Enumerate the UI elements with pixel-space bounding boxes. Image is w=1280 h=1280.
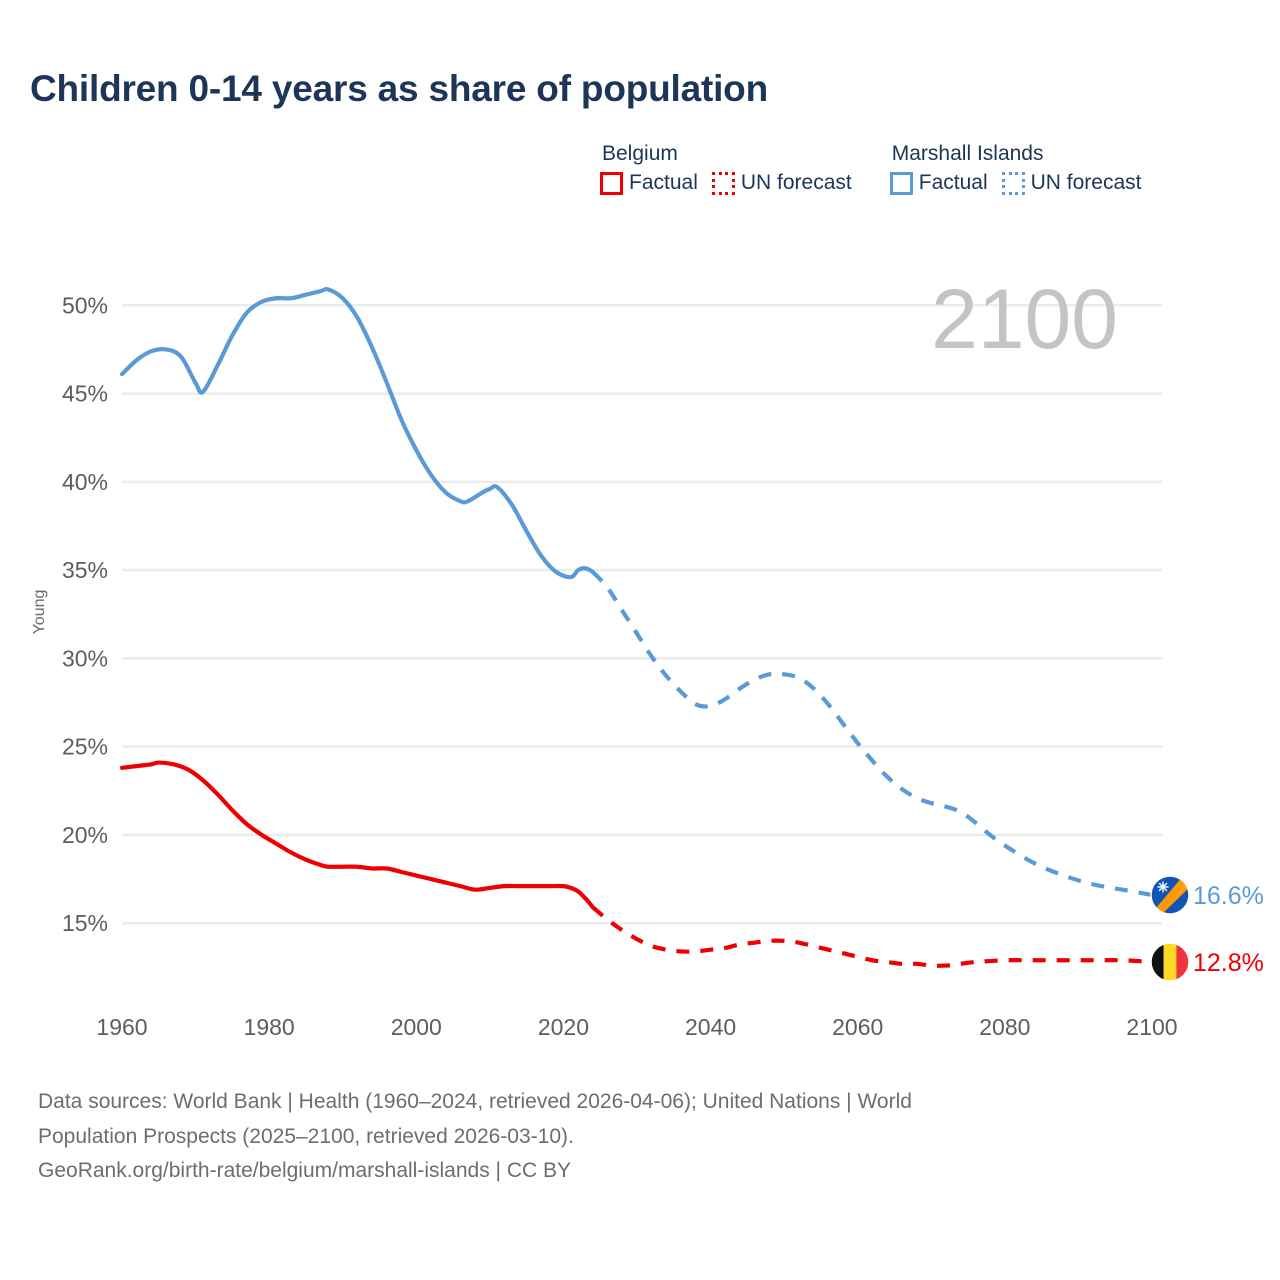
y-axis-tick-label: 50% <box>62 292 108 318</box>
x-axis-tick-label: 2000 <box>391 1014 442 1040</box>
footer-line-3[interactable]: GeoRank.org/birth-rate/belgium/marshall-… <box>38 1154 1188 1189</box>
y-axis-tick-label: 30% <box>62 645 108 671</box>
series-line-factual <box>122 289 593 577</box>
y-axis-label: Young <box>31 590 48 635</box>
x-axis-tick-label: 2020 <box>538 1014 589 1040</box>
series-line-forecast <box>593 572 1152 895</box>
x-axis-tick-label: 2040 <box>685 1014 736 1040</box>
marshall-islands-flag-icon <box>1151 875 1189 914</box>
year-watermark: 2100 <box>931 272 1118 366</box>
plot-area: 15%20%25%30%35%40%45%50% 196019802000202… <box>0 0 1280 1060</box>
series-line-forecast <box>593 907 1152 965</box>
x-axis-tick-label: 2080 <box>979 1014 1030 1040</box>
chart-container: Children 0-14 years as share of populati… <box>0 0 1280 1280</box>
x-axis-tick-label: 1980 <box>244 1014 295 1040</box>
belgium-end-value: 12.8% <box>1193 949 1264 977</box>
y-axis-tick-label: 45% <box>62 381 108 407</box>
footer-line-2: Population Prospects (2025–2100, retriev… <box>38 1120 1188 1155</box>
gridlines <box>122 305 1162 923</box>
y-axis-tick-label: 40% <box>62 469 108 495</box>
y-axis-tick-labels: 15%20%25%30%35%40%45%50% <box>62 292 108 936</box>
x-axis-tick-label: 2060 <box>832 1014 883 1040</box>
footer-line-1: Data sources: World Bank | Health (1960–… <box>38 1085 1188 1120</box>
y-axis-tick-label: 15% <box>62 910 108 936</box>
x-axis-tick-labels: 19601980200020202040206020802100 <box>96 1014 1177 1040</box>
footer-sources: Data sources: World Bank | Health (1960–… <box>38 1085 1188 1189</box>
marshall-islands-end-value: 16.6% <box>1193 882 1264 910</box>
y-axis-tick-label: 35% <box>62 557 108 583</box>
x-axis-tick-label: 1960 <box>96 1014 147 1040</box>
y-axis-tick-label: 25% <box>62 734 108 760</box>
y-axis-tick-label: 20% <box>62 822 108 848</box>
belgium-flag-icon <box>1151 943 1189 981</box>
x-axis-tick-label: 2100 <box>1126 1014 1177 1040</box>
data-series <box>122 289 1152 966</box>
